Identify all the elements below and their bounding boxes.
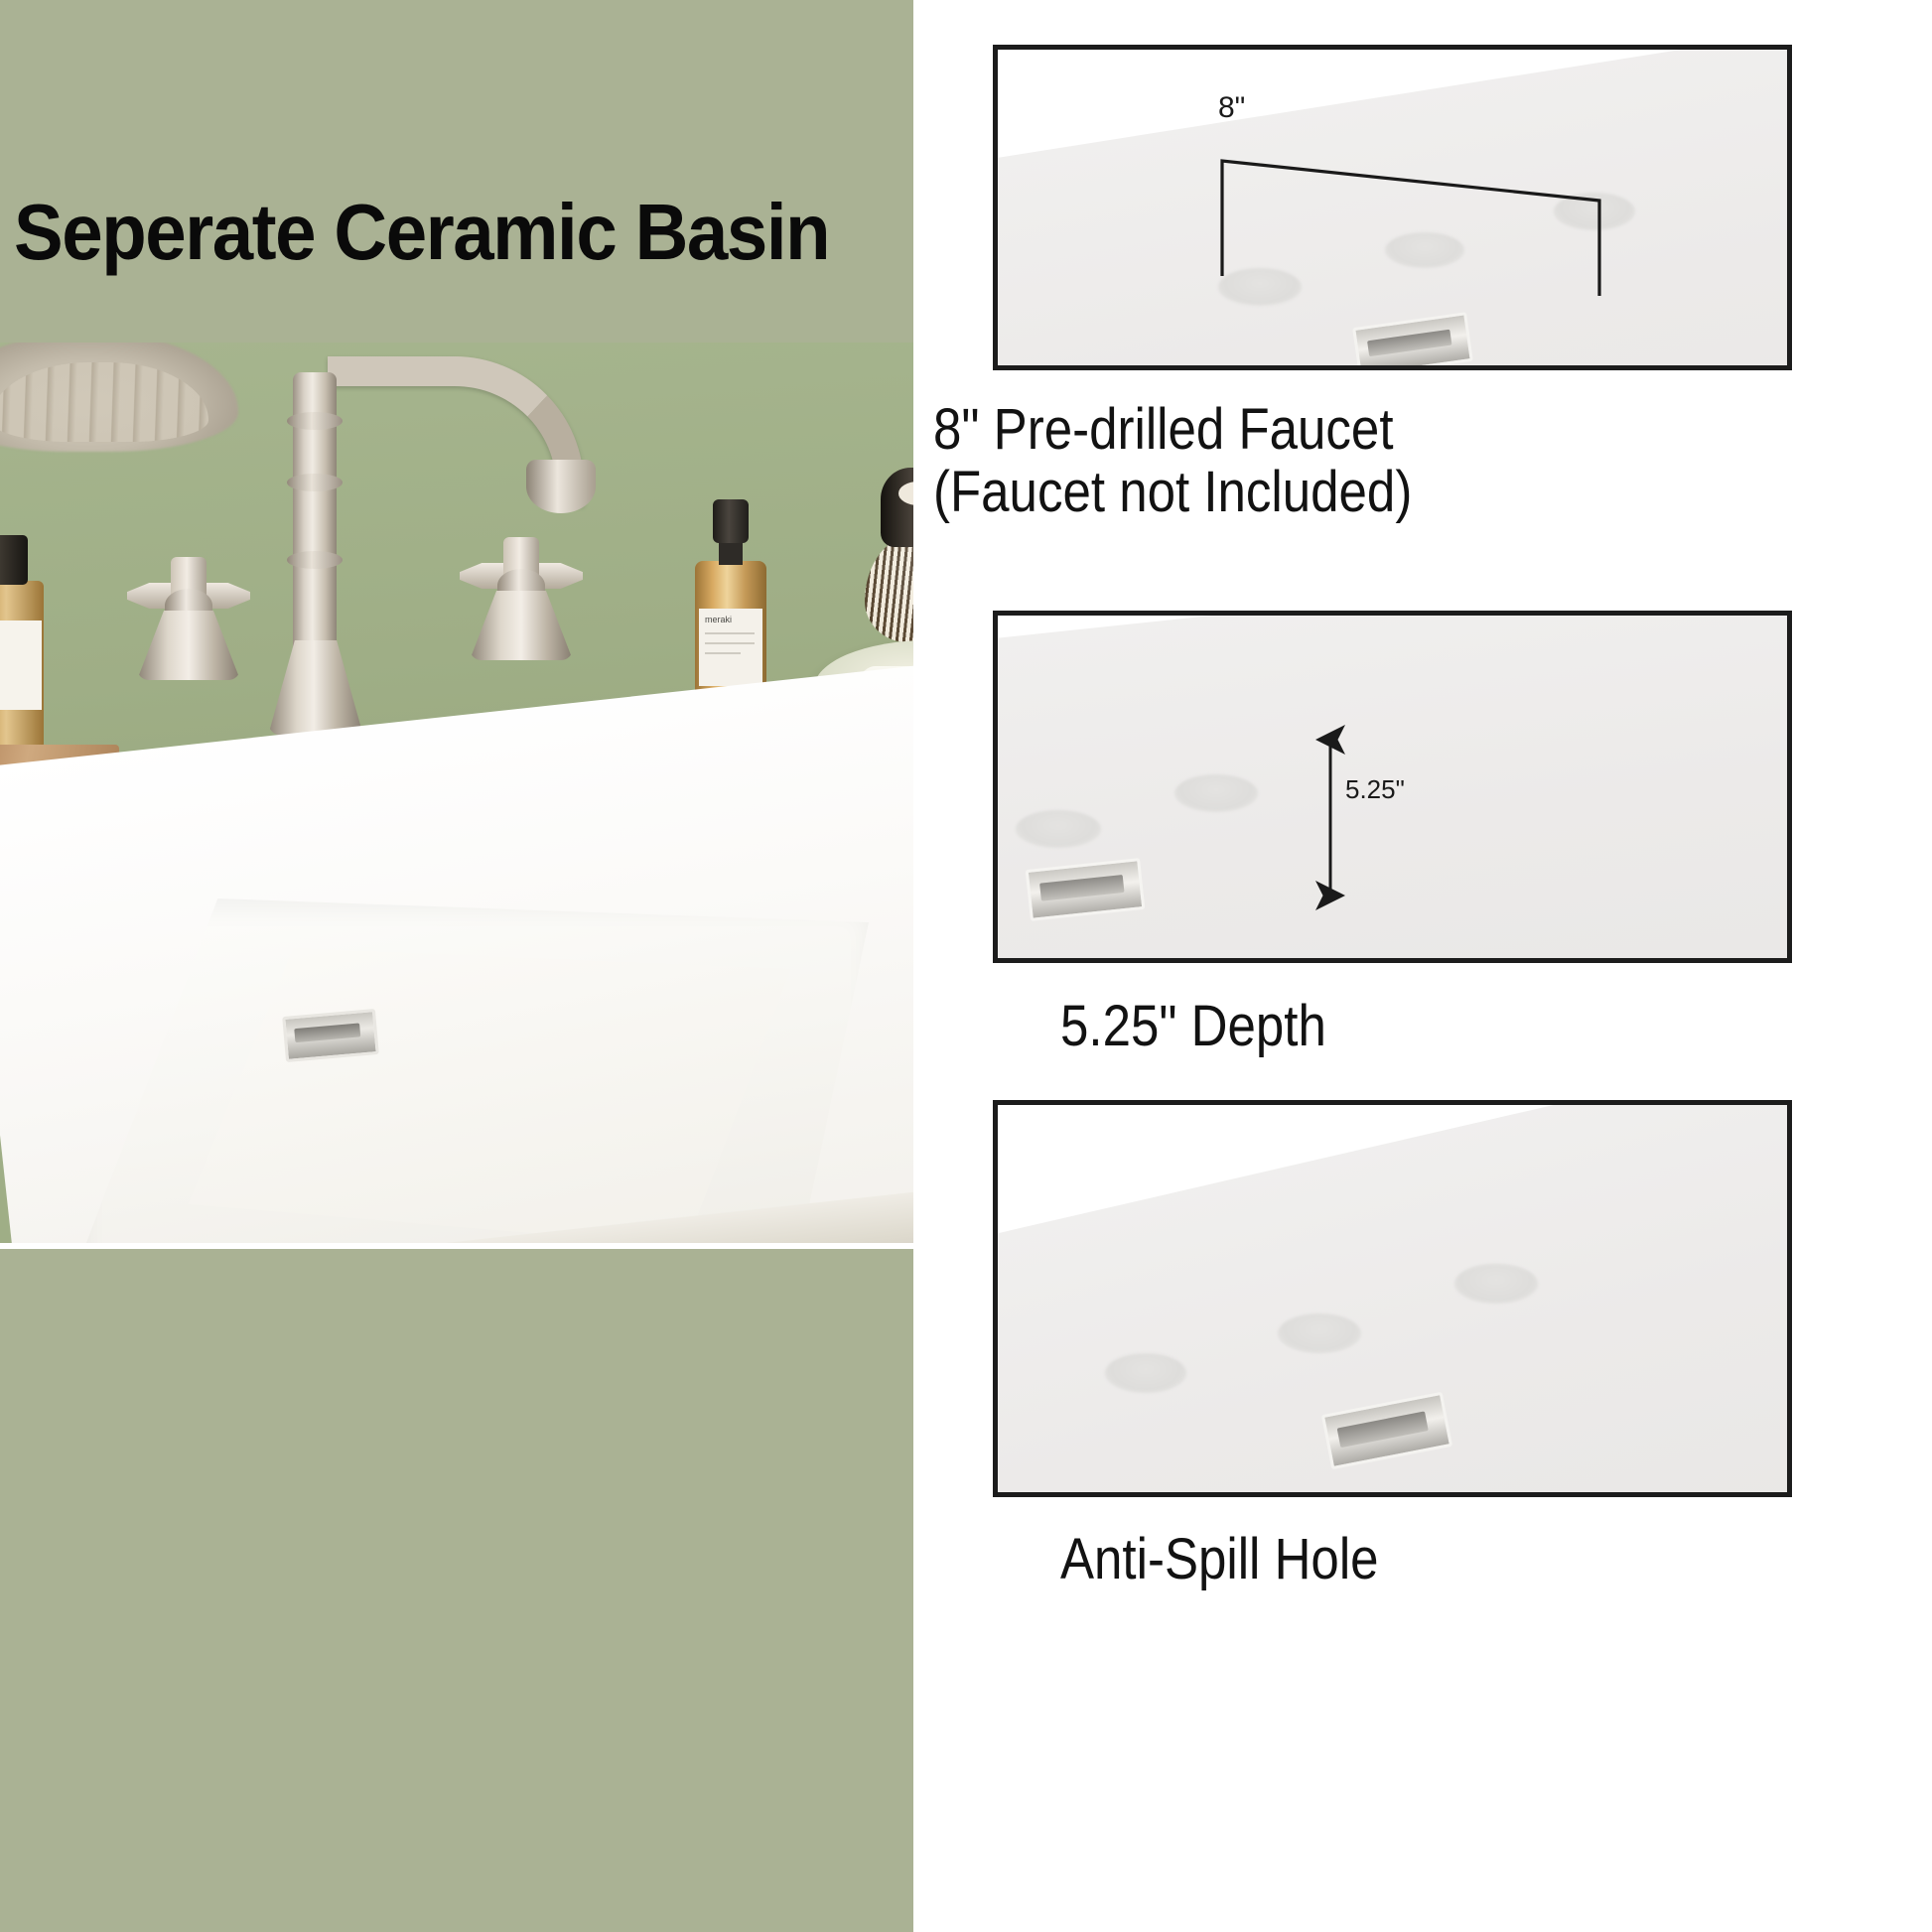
faucet-handle-right <box>452 531 591 660</box>
dimension-label-8in: 8" <box>1218 91 1245 125</box>
dimension-bracket-8in <box>998 50 1777 355</box>
page-title: Seperate Ceramic Basin <box>14 193 838 272</box>
panel-anti-spill-hole <box>993 1100 1792 1497</box>
left-column: Seperate Ceramic Basin <box>0 0 913 1932</box>
dimension-label-depth: 5.25" <box>1345 774 1405 805</box>
caption-anti-spill-hole: Anti-Spill Hole <box>1060 1529 1379 1591</box>
faucet-hole-left <box>1105 1353 1186 1393</box>
bottle-cap <box>0 535 28 585</box>
caption-pre-drilled-faucet: 8" Pre-drilled Faucet (Faucet not Includ… <box>933 399 1412 523</box>
bottle-brand-text: meraki <box>705 615 732 624</box>
handle-base <box>137 611 240 680</box>
faucet-handle-left <box>119 551 258 680</box>
handle-base <box>470 591 573 660</box>
faucet-ring-2 <box>287 474 343 491</box>
panel-basin-depth: 5.25" <box>993 611 1792 963</box>
footer-band <box>0 1249 913 1932</box>
faucet-nozzle <box>526 460 596 513</box>
caption-basin-depth: 5.25" Depth <box>1060 996 1326 1058</box>
faucet-hole-right <box>1454 1264 1538 1304</box>
brush-handle <box>881 468 913 547</box>
faucet-ring-1 <box>287 412 343 430</box>
faucet-ring-3 <box>287 551 343 569</box>
right-column: 8" 8" Pre-drilled Faucet (Faucet not Inc… <box>913 0 1932 1932</box>
bottle-label: meraki <box>699 609 762 686</box>
panel-pre-drilled-faucet: 8" <box>993 45 1792 370</box>
overflow-hole-photo <box>282 1009 379 1062</box>
title-band <box>0 0 913 343</box>
dropper-cap <box>713 499 749 543</box>
label-rule <box>705 642 755 644</box>
product-photo: meraki blank bla <box>0 343 913 1243</box>
brush-bristles <box>865 533 913 642</box>
label-rule <box>705 652 741 654</box>
soap-bottle-left <box>0 521 44 750</box>
label-rule <box>705 632 755 634</box>
faucet-hole-center <box>1278 1313 1361 1353</box>
bottle-label <box>0 621 42 710</box>
